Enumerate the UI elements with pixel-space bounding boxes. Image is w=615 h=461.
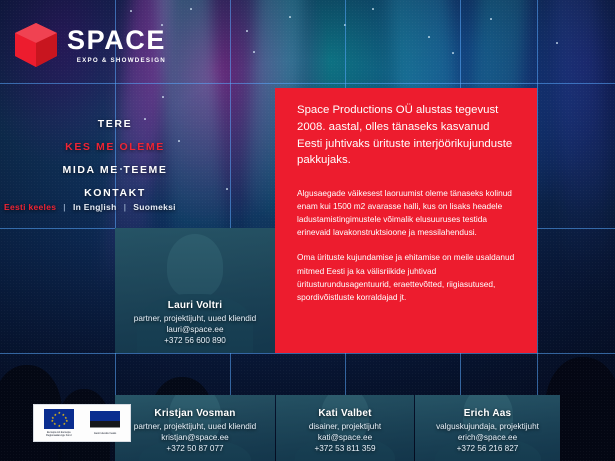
about-paragraph-1: Algusaegade väikesest laoruumist oleme t… xyxy=(297,187,517,239)
contact-phone: +372 50 87 077 xyxy=(120,444,270,455)
contact-role: partner, projektijuht, uued kliendid xyxy=(120,422,270,433)
contact-name: Kristjan Vosman xyxy=(120,408,270,419)
logo-tagline: EXPO & SHOWDESIGN xyxy=(67,57,166,64)
nav-item-kes-me-oleme[interactable]: KES ME OLEME xyxy=(0,135,230,158)
nav-item-kontakt[interactable]: KONTAKT xyxy=(0,181,230,204)
contact-phone: +372 56 216 827 xyxy=(420,444,555,455)
nav-item-mida-me-teeme[interactable]: MIDA ME TEEME xyxy=(0,158,230,181)
logo-word: SPACE xyxy=(67,27,166,54)
nav-item-tere[interactable]: TERE xyxy=(0,112,230,135)
contact-details: Kati Valbet disainer, projektijuht kati@… xyxy=(276,408,414,455)
contact-card-lauri-voltri: Lauri Voltri partner, projektijuht, uued… xyxy=(115,228,275,353)
about-content-panel: Space Productions OÜ alustas tegevust 20… xyxy=(275,88,537,353)
eu-logo-caption: Euroopa Liit Euroopa Regionaalarengu Fon… xyxy=(38,431,80,437)
eu-regional-fund-logo: ★ ★ ★ ★ ★ ★ ★ ★ ★ ★ Euroopa Liit Euroopa… xyxy=(38,409,80,437)
contact-name: Lauri Voltri xyxy=(120,300,270,311)
estonia-logo-caption: Eesti tuleviku heaks xyxy=(94,432,116,435)
contact-role: valguskujundaja, projektijuht xyxy=(420,422,555,433)
contact-email[interactable]: kati@space.ee xyxy=(281,433,409,444)
contact-details: Kristjan Vosman partner, projektijuht, u… xyxy=(115,408,275,455)
contact-card-erich-aas: Erich Aas valguskujundaja, projektijuht … xyxy=(415,395,560,461)
red-cube-icon xyxy=(14,22,58,68)
contact-role: disainer, projektijuht xyxy=(281,422,409,433)
contact-email[interactable]: lauri@space.ee xyxy=(120,325,270,336)
contact-name: Erich Aas xyxy=(420,408,555,419)
logo-wordmark: SPACE EXPO & SHOWDESIGN xyxy=(67,27,166,64)
contact-phone: +372 56 600 890 xyxy=(120,336,270,347)
contact-email[interactable]: kristjan@space.ee xyxy=(120,433,270,444)
contact-email[interactable]: erich@space.ee xyxy=(420,433,555,444)
main-navigation: TERE KES ME OLEME MIDA ME TEEME KONTAKT xyxy=(0,112,230,204)
language-option-finnish[interactable]: Suomeksi xyxy=(133,202,176,212)
language-separator: | xyxy=(63,202,66,212)
language-option-estonian[interactable]: Eesti keeles xyxy=(4,202,56,212)
language-separator: | xyxy=(124,202,127,212)
contact-role: partner, projektijuht, uued kliendid xyxy=(120,314,270,325)
contact-phone: +372 53 811 359 xyxy=(281,444,409,455)
language-option-english[interactable]: In English xyxy=(73,202,117,212)
about-lede-paragraph: Space Productions OÜ alustas tegevust 20… xyxy=(297,102,517,169)
contact-card-kristjan-vosman: Kristjan Vosman partner, projektijuht, u… xyxy=(115,395,275,461)
contact-name: Kati Valbet xyxy=(281,408,409,419)
contact-details: Erich Aas valguskujundaja, projektijuht … xyxy=(415,408,560,455)
eu-flag-icon: ★ ★ ★ ★ ★ ★ ★ ★ ★ ★ xyxy=(44,409,74,429)
language-switcher: Eesti keeles | In English | Suomeksi xyxy=(4,202,176,212)
contact-card-kati-valbet: Kati Valbet disainer, projektijuht kati@… xyxy=(276,395,414,461)
contact-details: Lauri Voltri partner, projektijuht, uued… xyxy=(115,300,275,347)
site-logo[interactable]: SPACE EXPO & SHOWDESIGN xyxy=(14,22,166,68)
about-paragraph-2: Oma ürituste kujundamise ja ehitamise on… xyxy=(297,251,517,303)
